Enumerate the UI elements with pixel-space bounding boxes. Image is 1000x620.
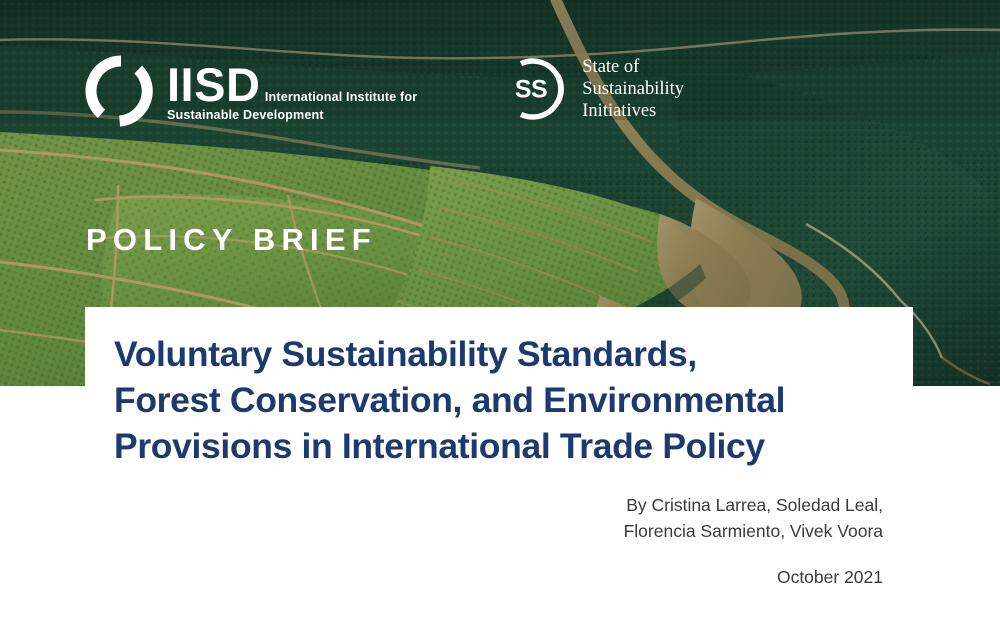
iisd-logo: IISD International Institute for Sustain… — [85, 55, 417, 127]
logo-bar: IISD International Institute for Sustain… — [85, 55, 684, 127]
page-title: Voluntary Sustainability Standards, Fore… — [85, 331, 913, 469]
title-line-3: Provisions in International Trade Policy — [114, 423, 887, 469]
iisd-wordmark: IISD — [167, 58, 260, 111]
title-panel: Voluntary Sustainability Standards, Fore… — [85, 307, 913, 483]
ssi-name: State of Sustainability Initiatives — [582, 55, 684, 122]
ssi-logo: SS State of Sustainability Initiatives — [501, 55, 684, 123]
credits-block: By Cristina Larrea, Soledad Leal, Floren… — [624, 492, 883, 589]
title-line-1: Voluntary Sustainability Standards, — [114, 331, 887, 377]
iisd-circle-mark — [85, 55, 157, 127]
policy-brief-cover: IISD International Institute for Sustain… — [0, 0, 1000, 620]
svg-text:SS: SS — [515, 76, 547, 104]
ssi-circle-mark: SS — [501, 55, 569, 123]
author-list: By Cristina Larrea, Soledad Leal, Floren… — [624, 492, 883, 545]
document-type-label: POLICY BRIEF — [86, 222, 377, 258]
title-line-2: Forest Conservation, and Environmental — [114, 377, 887, 423]
publication-date: October 2021 — [624, 565, 883, 590]
